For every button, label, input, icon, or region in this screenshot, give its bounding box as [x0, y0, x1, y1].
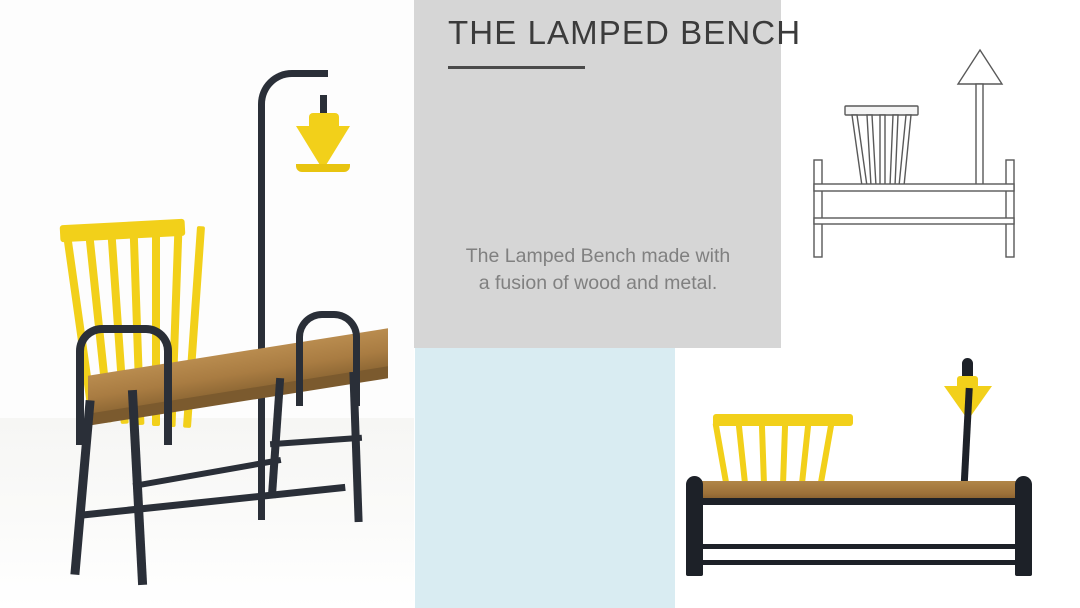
backrest-spindle	[736, 422, 749, 488]
bench-stretcher-lower	[690, 560, 1022, 565]
sketch-spindle	[880, 115, 885, 186]
armrest-rear	[76, 325, 172, 445]
blue-panel	[415, 348, 675, 608]
bench-seat-plank	[700, 481, 1020, 499]
body-paragraph: The Lamped Bench made with a fusion of w…	[458, 243, 738, 297]
backrest-top-rail	[60, 219, 186, 243]
sketch-leg-left	[814, 160, 822, 257]
backrest-spindle	[817, 422, 834, 486]
bench-stretcher-upper	[690, 544, 1022, 549]
slide-canvas: THE LAMPED BENCH The Lamped Bench made w…	[0, 0, 1080, 608]
armrest-front	[296, 311, 360, 406]
sketch-backrest-rail	[845, 106, 918, 115]
sketch-stretcher	[814, 218, 1014, 224]
text-block: THE LAMPED BENCH The Lamped Bench made w…	[414, 0, 781, 348]
hero-bench-photo	[0, 0, 414, 608]
title-divider	[448, 66, 585, 69]
side-view-bench-photo	[676, 348, 1080, 608]
page-title: THE LAMPED BENCH	[448, 14, 768, 52]
sketch-spindle	[867, 115, 876, 186]
sketch-lamp-pole	[976, 84, 983, 188]
backrest-spindle	[759, 422, 767, 490]
sketch-lamp-shade-icon	[958, 50, 1002, 84]
sketch-spindle	[899, 115, 911, 186]
bench-seat-frame	[694, 498, 1024, 505]
sketch-leg-right	[1006, 160, 1014, 257]
sketch-spindle	[852, 115, 867, 186]
backrest-spindle	[712, 422, 729, 486]
sketch-seat-rail	[814, 184, 1014, 191]
lamp-shade-lip	[296, 164, 350, 172]
backrest-spindle	[799, 422, 812, 488]
bench-line-drawing	[810, 48, 1060, 263]
backrest-spindle	[780, 422, 788, 490]
sketch-spindle	[890, 115, 898, 186]
